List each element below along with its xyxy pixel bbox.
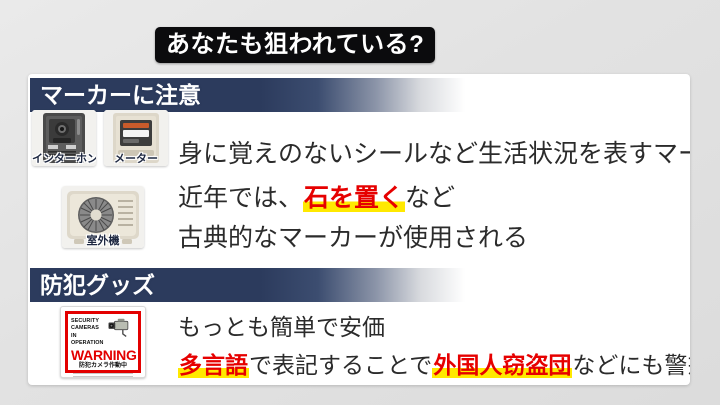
thumbnail-intercom: インターホン [32, 110, 96, 166]
body-line-2: 近年では、石を置くなど [178, 186, 455, 211]
security-sign-top-row: SECURITY CAMERAS IN OPERATION [71, 316, 135, 347]
body-line-4-seg-0: もっとも簡単で安価 [178, 314, 385, 340]
infographic-slide: あなたも狙われている? マーカーに注意 [0, 0, 720, 405]
body-line-5: 多言語で表記することで外国人窃盗団などにも警戒 [178, 354, 690, 377]
security-sign-english-block: SECURITY CAMERAS IN OPERATION [71, 316, 104, 347]
body-line-3: 古典的なマーカーが使用される [178, 226, 528, 251]
body-line-1: 身に覚えのないシールなど生活状況を表すマーク [178, 142, 690, 167]
body-line-1-seg-0: 身に覚えのないシールなど生活状況を表すマーク [178, 140, 690, 168]
body-line-2-seg-0: 近年では、 [178, 184, 303, 212]
slide-title-text: あなたも狙われている? [166, 33, 424, 57]
body-line-5-highlight-1: 多言語 [178, 352, 249, 378]
thumbnail-intercom-caption: インターホン [32, 154, 96, 165]
section-header-security-goods-label: 防犯グッズ [30, 274, 155, 297]
body-line-4: もっとも簡単で安価 [178, 316, 385, 339]
content-panel: マーカーに注意 インターホン [28, 74, 690, 385]
security-sign-japanese-text: 防犯カメラ作動中 [71, 363, 135, 370]
body-line-5-seg-1: で表記することで [249, 352, 432, 378]
security-camera-icon [106, 316, 135, 340]
security-sign-english-line3: IN OPERATION [71, 333, 104, 348]
thumbnail-outdoor-unit-caption: 室外機 [62, 236, 144, 247]
body-line-2-seg-2: など [405, 184, 455, 212]
body-line-3-seg-0: 古典的なマーカーが使用される [178, 224, 528, 252]
security-sign-warning-text: WARNING [71, 348, 135, 362]
thumbnail-meter-caption: メーター [104, 154, 168, 165]
security-sign-rule-lines [71, 373, 135, 378]
section-header-markers-label: マーカーに注意 [30, 84, 201, 107]
section-header-markers: マーカーに注意 [30, 78, 670, 112]
security-sign-artwork: SECURITY CAMERAS IN OPERATION WARNING 防犯 [65, 311, 141, 373]
slide-title: あなたも狙われている? [155, 27, 435, 63]
security-sign-english-line2: CAMERAS [71, 325, 104, 332]
thumbnail-outdoor-unit: 室外機 [62, 186, 144, 248]
body-line-5-highlight-2: 外国人窃盗団 [432, 352, 572, 378]
section-header-security-goods: 防犯グッズ [30, 268, 670, 302]
security-sign-english-line1: SECURITY [71, 318, 104, 325]
body-line-2-highlight: 石を置く [303, 184, 405, 212]
body-line-5-seg-3: などにも警戒 [572, 352, 690, 378]
thumbnail-security-warning-sign: SECURITY CAMERAS IN OPERATION WARNING 防犯 [60, 306, 146, 378]
thumbnail-meter: メーター [104, 110, 168, 166]
